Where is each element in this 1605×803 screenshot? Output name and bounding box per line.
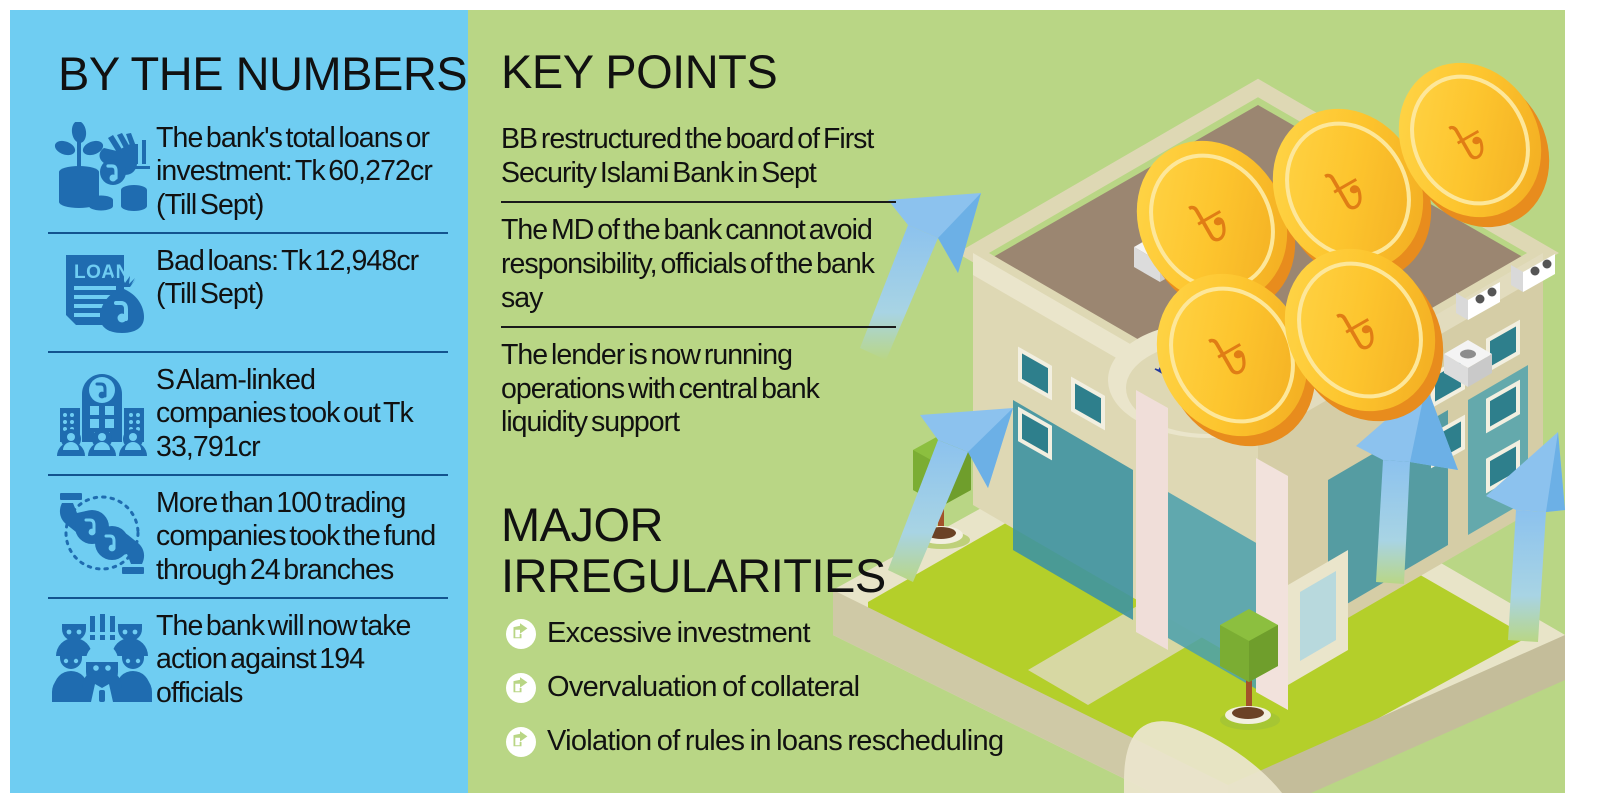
circle-arrow-bullet-icon — [501, 614, 541, 654]
tree — [1220, 609, 1280, 730]
key-points-list: BB restructured the board of First Secur… — [501, 123, 896, 451]
hands-exchanging-taka-coins-icon — [48, 485, 156, 583]
circle-arrow-bullet-icon — [501, 722, 541, 762]
coins-plant-hand-icon — [48, 120, 156, 218]
stat-row: S Alam-linked companies took out Tk 33,7… — [48, 351, 448, 470]
stat-row: LOAN — [48, 232, 448, 347]
irregularity-item: Violation of rules in loans rescheduling — [501, 722, 1061, 762]
growth-arrow — [1356, 385, 1458, 584]
major-irregularities-heading: MAJOR IRREGULARITIES — [501, 500, 886, 602]
roof-vent — [1444, 340, 1492, 387]
key-points-panel: BANK — [468, 10, 1565, 793]
tree — [913, 434, 971, 549]
taka-coin: ৳ — [1244, 81, 1461, 308]
irregularity-text: Excessive investment — [541, 618, 810, 650]
taka-coin: ৳ — [1256, 221, 1473, 448]
stat-row: The bank's total loans or investment: Tk… — [48, 120, 448, 228]
major-irregularities-heading-line1: MAJOR — [501, 500, 886, 551]
stats-list: The bank's total loans or investment: Tk… — [48, 120, 448, 716]
key-point-item: The MD of the bank cannot avoid responsi… — [501, 201, 896, 326]
key-points-heading: KEY POINTS — [501, 48, 777, 96]
svg-text:৳: ৳ — [1180, 181, 1243, 260]
growth-arrow — [1486, 432, 1565, 642]
key-point-item: BB restructured the board of First Secur… — [501, 123, 896, 201]
infographic-root: BY THE NUMBERS — [0, 0, 1605, 803]
group-of-officials-alert-icon — [48, 608, 156, 706]
irregularity-text: Overvaluation of collateral — [541, 672, 859, 704]
svg-text:৳: ৳ — [1440, 103, 1499, 176]
circle-arrow-bullet-icon — [501, 668, 541, 708]
growth-arrow — [888, 408, 1013, 582]
ac-unit — [1511, 254, 1555, 292]
stat-text: More than 100 trading companies took the… — [156, 485, 448, 587]
loan-document-money-bag-icon: LOAN — [48, 243, 156, 341]
svg-text:৳: ৳ — [1200, 314, 1263, 393]
taka-coin: ৳ — [1108, 113, 1325, 340]
stat-text: Bad loans: Tk 12,948cr (Till Sept) — [156, 243, 448, 312]
taka-coin: ৳ — [1128, 246, 1345, 473]
irregularities-list: Excessive investment Overvaluation of co… — [501, 614, 1061, 776]
irregularity-text: Violation of rules in loans rescheduling — [541, 726, 1003, 758]
stat-text: The bank will now take action against 19… — [156, 608, 448, 710]
key-point-item: The lender is now running operations wit… — [501, 326, 896, 451]
major-irregularities-heading-line2: IRREGULARITIES — [501, 551, 886, 602]
svg-text:৳: ৳ — [1316, 149, 1379, 228]
bank-building-people-icon — [48, 362, 156, 460]
ac-unit — [1456, 282, 1500, 320]
stat-row: More than 100 trading companies took the… — [48, 474, 448, 593]
irregularity-item: Overvaluation of collateral — [501, 668, 1061, 708]
stat-text: S Alam-linked companies took out Tk 33,7… — [156, 362, 448, 464]
by-the-numbers-heading: BY THE NUMBERS — [58, 50, 467, 98]
roof-vent — [1134, 232, 1186, 282]
bank-sign-text: BANK — [1149, 338, 1272, 435]
svg-text:৳: ৳ — [1328, 289, 1391, 368]
irregularity-item: Excessive investment — [501, 614, 1061, 654]
by-the-numbers-panel: BY THE NUMBERS — [10, 10, 468, 793]
stat-row: The bank will now take action against 19… — [48, 597, 448, 716]
stat-text: The bank's total loans or investment: Tk… — [156, 120, 448, 222]
taka-coin: ৳ — [1371, 37, 1565, 254]
